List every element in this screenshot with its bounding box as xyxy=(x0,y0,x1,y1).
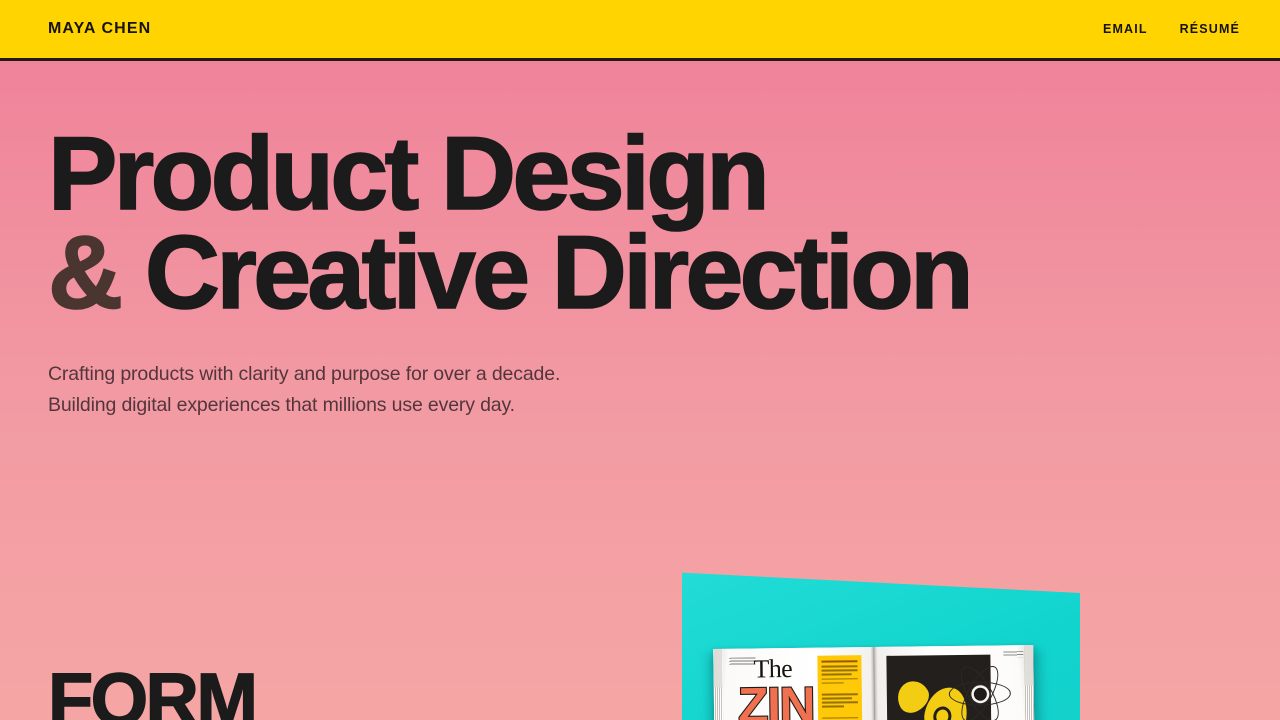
magazine-right-page xyxy=(874,645,1035,720)
hero-subtitle: Crafting products with clarity and purpo… xyxy=(48,359,1048,422)
hero-section: Product Design & Creative Direction Craf… xyxy=(48,125,1048,422)
nav-link-resume[interactable]: RÉSUMÉ xyxy=(1180,22,1240,36)
hero-subtitle-line-1: Crafting products with clarity and purpo… xyxy=(48,359,1048,391)
magazine-title-zin: ZIN xyxy=(738,680,815,720)
yellow-text-column xyxy=(817,655,862,720)
text-line xyxy=(821,706,843,708)
text-line xyxy=(821,674,851,676)
atom-diagram-icon xyxy=(947,661,1012,720)
text-line xyxy=(821,660,857,663)
headline-line-2-text: Creative Direction xyxy=(145,215,970,331)
nav-link-email[interactable]: EMAIL xyxy=(1103,22,1148,36)
site-header: MAYA CHEN EMAIL RÉSUMÉ xyxy=(0,0,1280,61)
kicker-text-block xyxy=(729,657,755,664)
page-number-mark xyxy=(1003,651,1023,657)
page-title: Product Design & Creative Direction xyxy=(48,125,1048,323)
magazine-spread: The ZIN xyxy=(713,645,1034,720)
portfolio-page: MAYA CHEN EMAIL RÉSUMÉ Product Design & … xyxy=(0,0,1280,720)
text-line xyxy=(821,697,851,699)
text-line xyxy=(821,669,857,671)
text-line xyxy=(821,693,857,695)
open-magazine: The ZIN xyxy=(713,645,1034,720)
magazine-photo: The ZIN xyxy=(676,558,1080,720)
primary-nav: EMAIL RÉSUMÉ xyxy=(1103,22,1240,36)
headline-ampersand: & xyxy=(48,215,120,331)
headline-line-2: & Creative Direction xyxy=(48,224,1048,323)
text-line xyxy=(821,682,843,684)
text-line xyxy=(821,665,857,667)
hero-subtitle-line-2: Building digital experiences that millio… xyxy=(48,390,1048,422)
brand-name[interactable]: MAYA CHEN xyxy=(48,20,151,38)
text-line xyxy=(822,717,858,719)
headline-line-1: Product Design xyxy=(48,125,1048,224)
atom-nucleus xyxy=(973,687,986,700)
section-heading-form: FORM xyxy=(48,657,255,720)
page-edge-left xyxy=(713,649,723,720)
page-edge-right xyxy=(1024,645,1034,720)
text-line xyxy=(821,678,857,680)
magazine-left-page: The ZIN xyxy=(713,647,875,720)
text-line xyxy=(821,701,857,703)
